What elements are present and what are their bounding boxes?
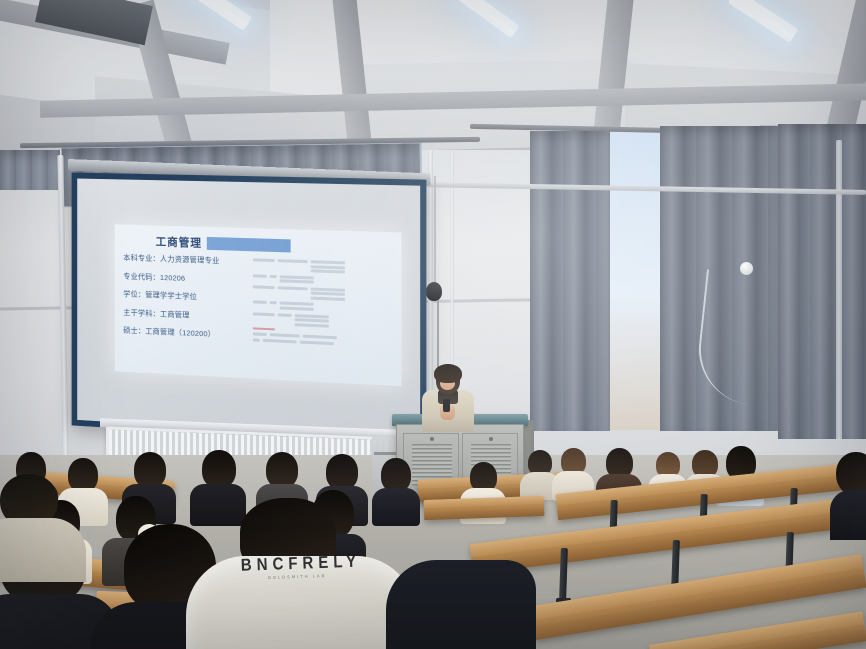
cabinet-lock-icon	[430, 437, 434, 441]
cabinet-lock-icon	[489, 437, 493, 441]
wall-pipe	[836, 140, 842, 440]
slide-title: 工商管理	[156, 233, 202, 250]
presentation-slide: 工商管理 本科专业：人力资源管理专业 专业代码：120206 学位：管理学学士学…	[115, 224, 402, 386]
bench-desk	[424, 496, 545, 520]
student	[0, 474, 86, 564]
lecture-hall-photo: 工商管理 本科专业：人力资源管理专业 专业代码：120206 学位：管理学学士学…	[0, 0, 866, 649]
slide-body: 本科专业：人力资源管理专业 专业代码：120206 学位：管理学学士学位 主干学…	[123, 252, 392, 356]
curtain[interactable]	[530, 131, 610, 431]
student-head	[266, 452, 298, 488]
slide-title-row: 工商管理	[156, 233, 393, 256]
slide-line: 主干学科：工商管理	[123, 306, 247, 322]
slide-line: 硕士：工商管理（120200）	[123, 325, 247, 342]
student	[386, 546, 536, 649]
student-head	[134, 452, 166, 488]
slide-accent-bar	[207, 236, 291, 252]
presenter	[418, 366, 478, 428]
student-head	[202, 450, 236, 488]
student	[836, 452, 866, 532]
student-torso	[386, 560, 536, 649]
equipment-rack-shelf	[374, 452, 396, 455]
microphone-cord	[434, 176, 436, 284]
slide-line: 学位：管理学学士学位	[123, 288, 247, 304]
slide-text-block: 本科专业：人力资源管理专业 专业代码：120206 学位：管理学学士学位 主干学…	[123, 252, 247, 349]
student	[552, 448, 594, 494]
projection-screen[interactable]: 工商管理 本科专业：人力资源管理专业 专业代码：120206 学位：管理学学士学…	[72, 173, 427, 448]
student-torso	[0, 518, 86, 582]
student-head	[326, 454, 358, 490]
slide-table-underline	[253, 328, 275, 330]
slide-line: 专业代码：120206	[123, 270, 247, 285]
presenter-phone	[443, 399, 450, 412]
curtain[interactable]	[778, 124, 866, 439]
presenter-hair	[434, 364, 462, 383]
slide-reference-table	[253, 256, 392, 355]
projection-screen-surface: 工商管理 本科专业：人力资源管理专业 专业代码：120206 学位：管理学学士学…	[77, 179, 420, 441]
student-head	[381, 458, 411, 492]
curtain[interactable]	[0, 150, 60, 190]
slide-line: 本科专业：人力资源管理专业	[123, 252, 247, 267]
student-torso	[830, 490, 866, 540]
hanging-microphone-icon	[426, 282, 442, 301]
